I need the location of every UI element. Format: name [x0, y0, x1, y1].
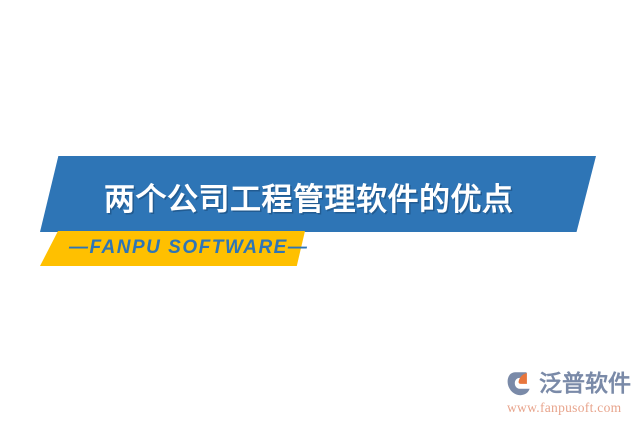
page-subtitle: —FANPU SOFTWARE— [69, 234, 308, 262]
page-title: 两个公司工程管理软件的优点 [104, 176, 534, 224]
slide-canvas: 两个公司工程管理软件的优点 —FANPU SOFTWARE— 泛普软件 www.… [0, 0, 640, 427]
logo-top-row: 泛普软件 [506, 368, 636, 400]
logo-wordmark: 泛普软件 [539, 369, 631, 399]
logo-website-url: www.fanpusoft.com [507, 399, 636, 416]
fanpu-logo: 泛普软件 www.fanpusoft.com [506, 368, 636, 420]
fanpu-logo-icon [506, 369, 536, 399]
